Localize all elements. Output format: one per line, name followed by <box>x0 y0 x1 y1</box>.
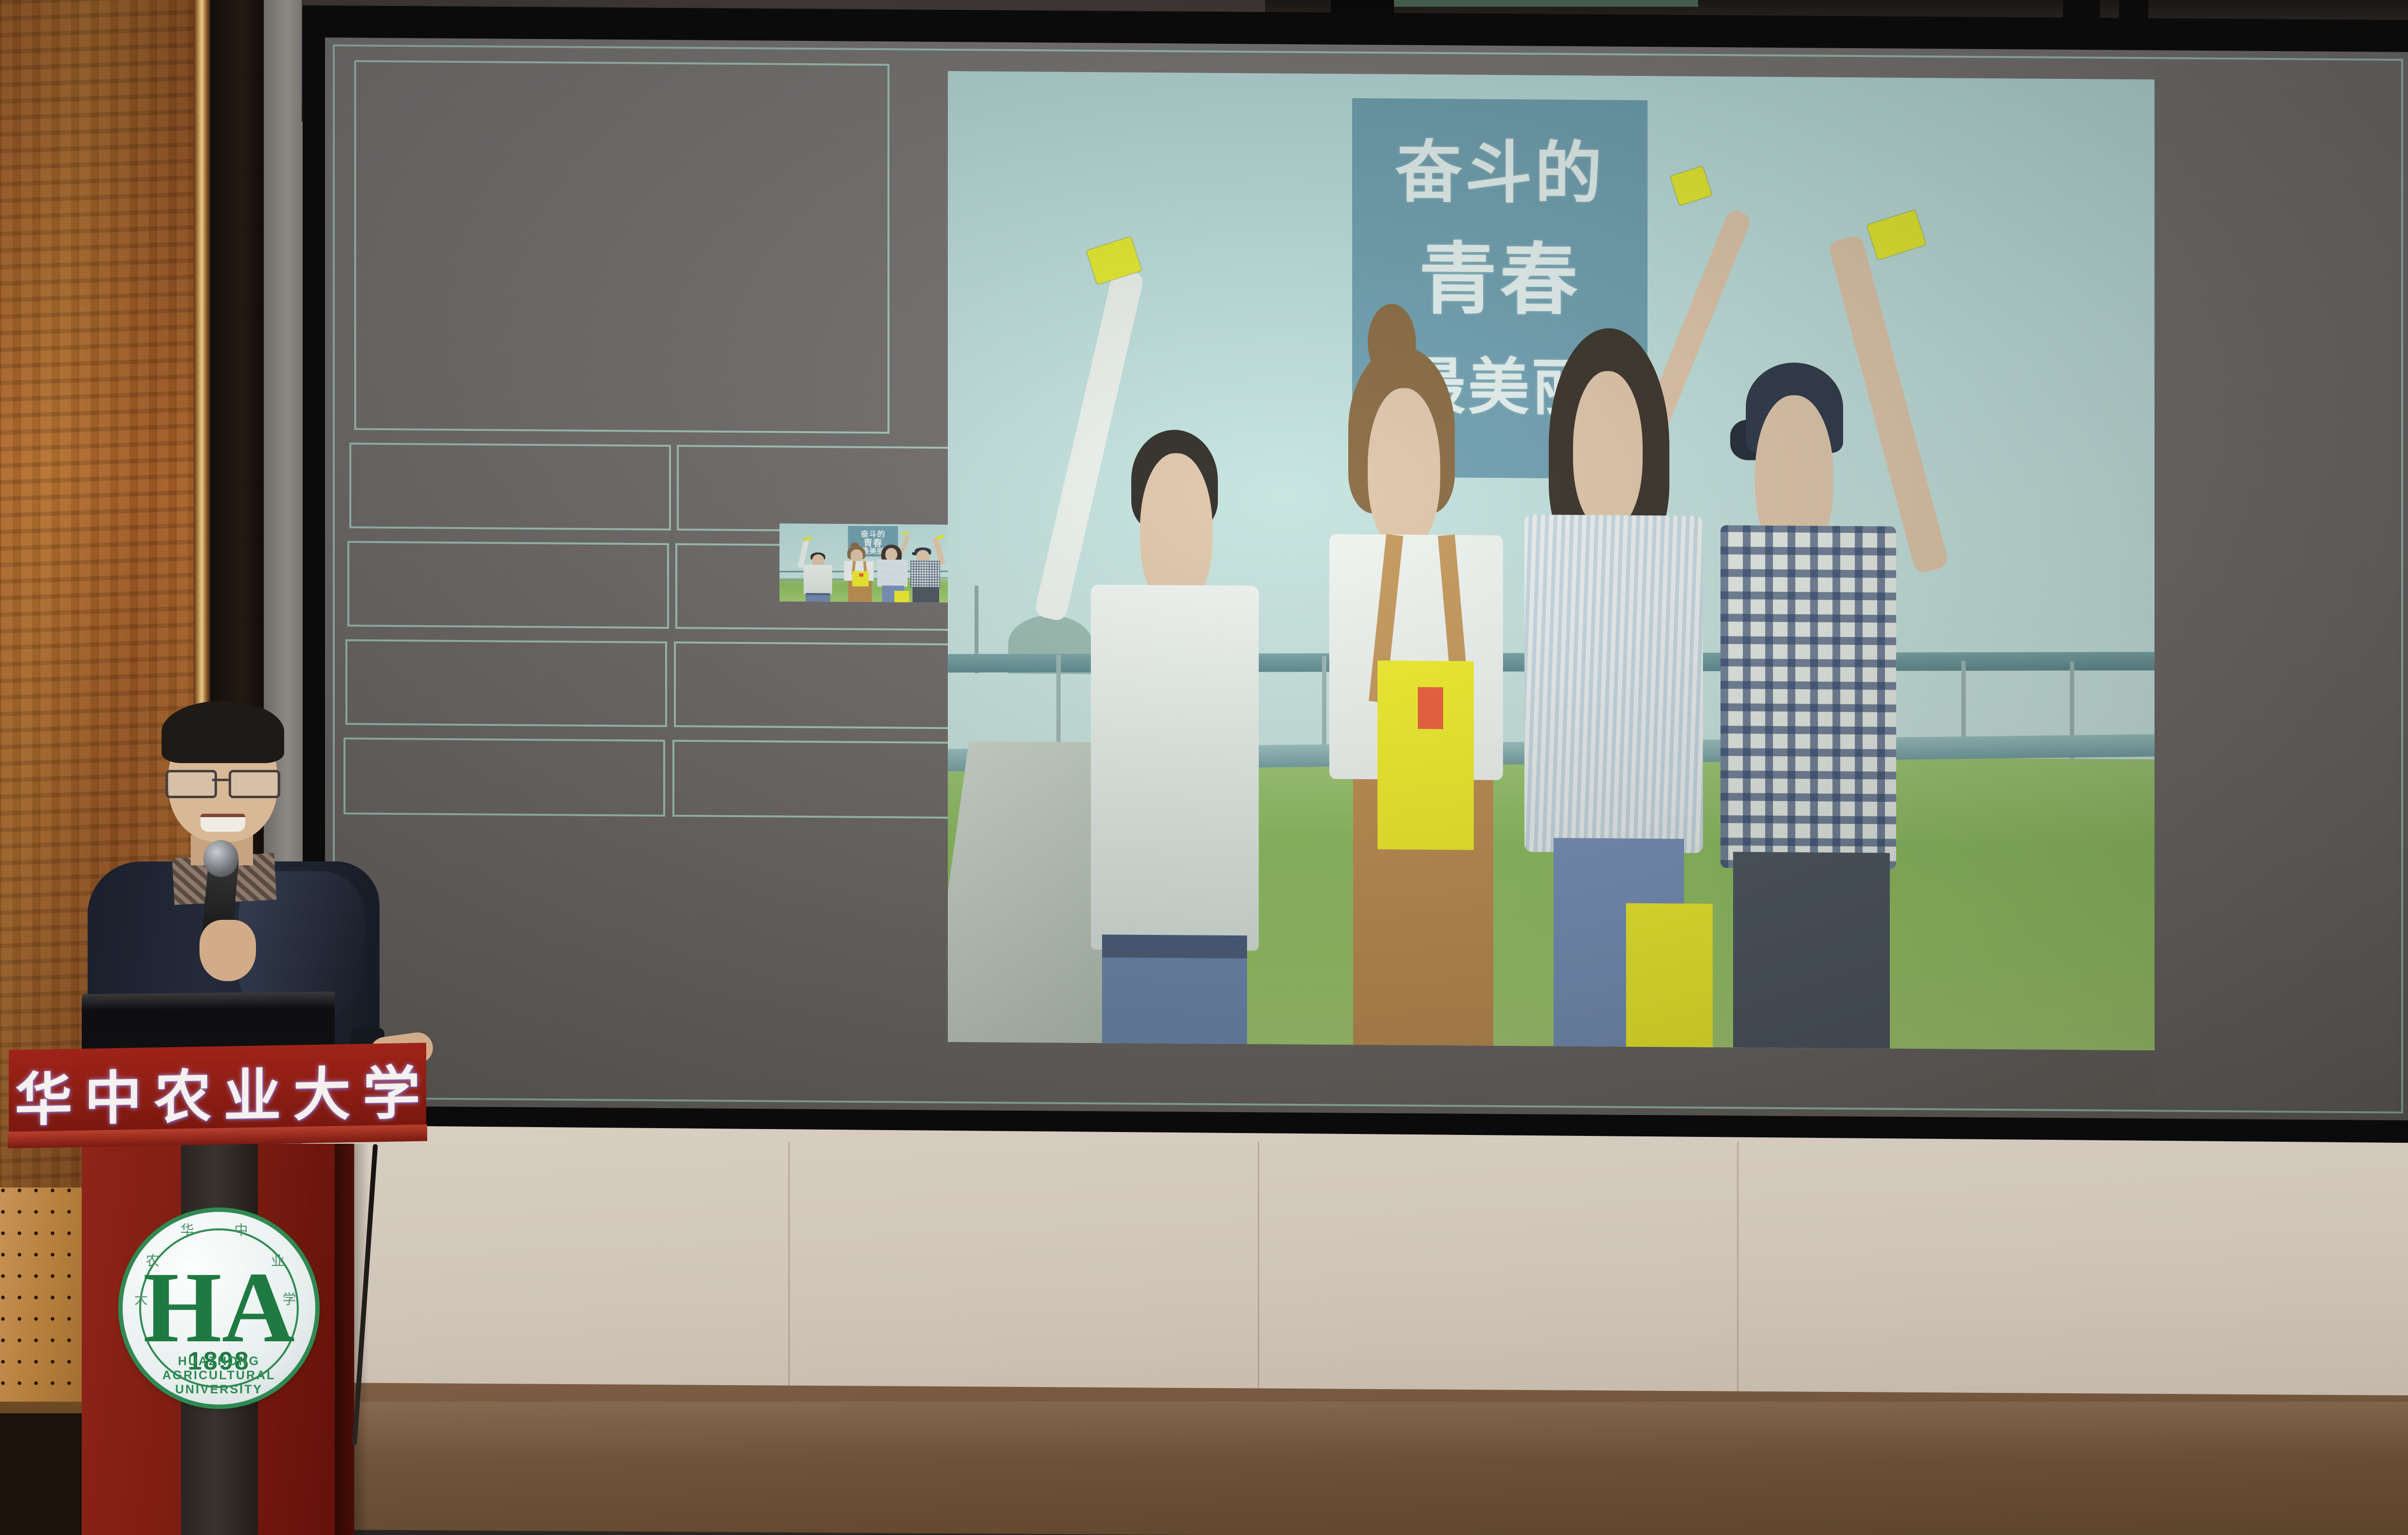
nameplate-char-4: 业 <box>223 1048 281 1133</box>
microphone-head-icon <box>203 840 238 877</box>
nameplate-char-3: 农 <box>154 1050 211 1134</box>
speaker-hand-holding-mic <box>199 920 256 981</box>
speaker-glasses <box>164 770 281 794</box>
nameplate-char-1: 华 <box>15 1052 72 1136</box>
emblem-university-name: HUAZHONG AGRICULTURAL UNIVERSITY <box>123 1354 315 1397</box>
nameplate-char-6: 学 <box>362 1046 420 1130</box>
stage-panel-seam-1 <box>788 1142 790 1412</box>
university-emblem: 华 中 农 业 大 学 HA 1898 HUAZHONG AGRICULTURA… <box>123 1212 315 1405</box>
emblem-cn-char-1: 华 <box>181 1220 194 1239</box>
nameplate-char-2: 中 <box>84 1051 142 1135</box>
projection-screen-canvas: 奋斗的 青春 最美丽 <box>325 37 2408 1120</box>
perforated-acoustic-panel <box>0 1188 85 1431</box>
podium-nameplate-text: 华 中 农 业 大 学 <box>9 1045 426 1138</box>
ceiling-green-light <box>1358 0 1698 7</box>
stage-front-wall <box>302 1125 2408 1415</box>
nameplate-char-5: 大 <box>293 1047 350 1132</box>
emblem-cn-char-2: 中 <box>235 1220 248 1239</box>
emblem-monogram: HA <box>143 1264 295 1351</box>
speaker-hair <box>162 701 284 763</box>
screen-vignette <box>325 37 2408 1120</box>
stage-panel-seam-3 <box>1737 1142 1738 1412</box>
floor-sheen <box>302 1402 2408 1460</box>
lecture-hall-photo: 奋斗的 青春 最美丽 <box>0 0 2408 1535</box>
speaker-mouth <box>200 814 245 832</box>
stage-panel-seam-2 <box>1258 1142 1259 1412</box>
